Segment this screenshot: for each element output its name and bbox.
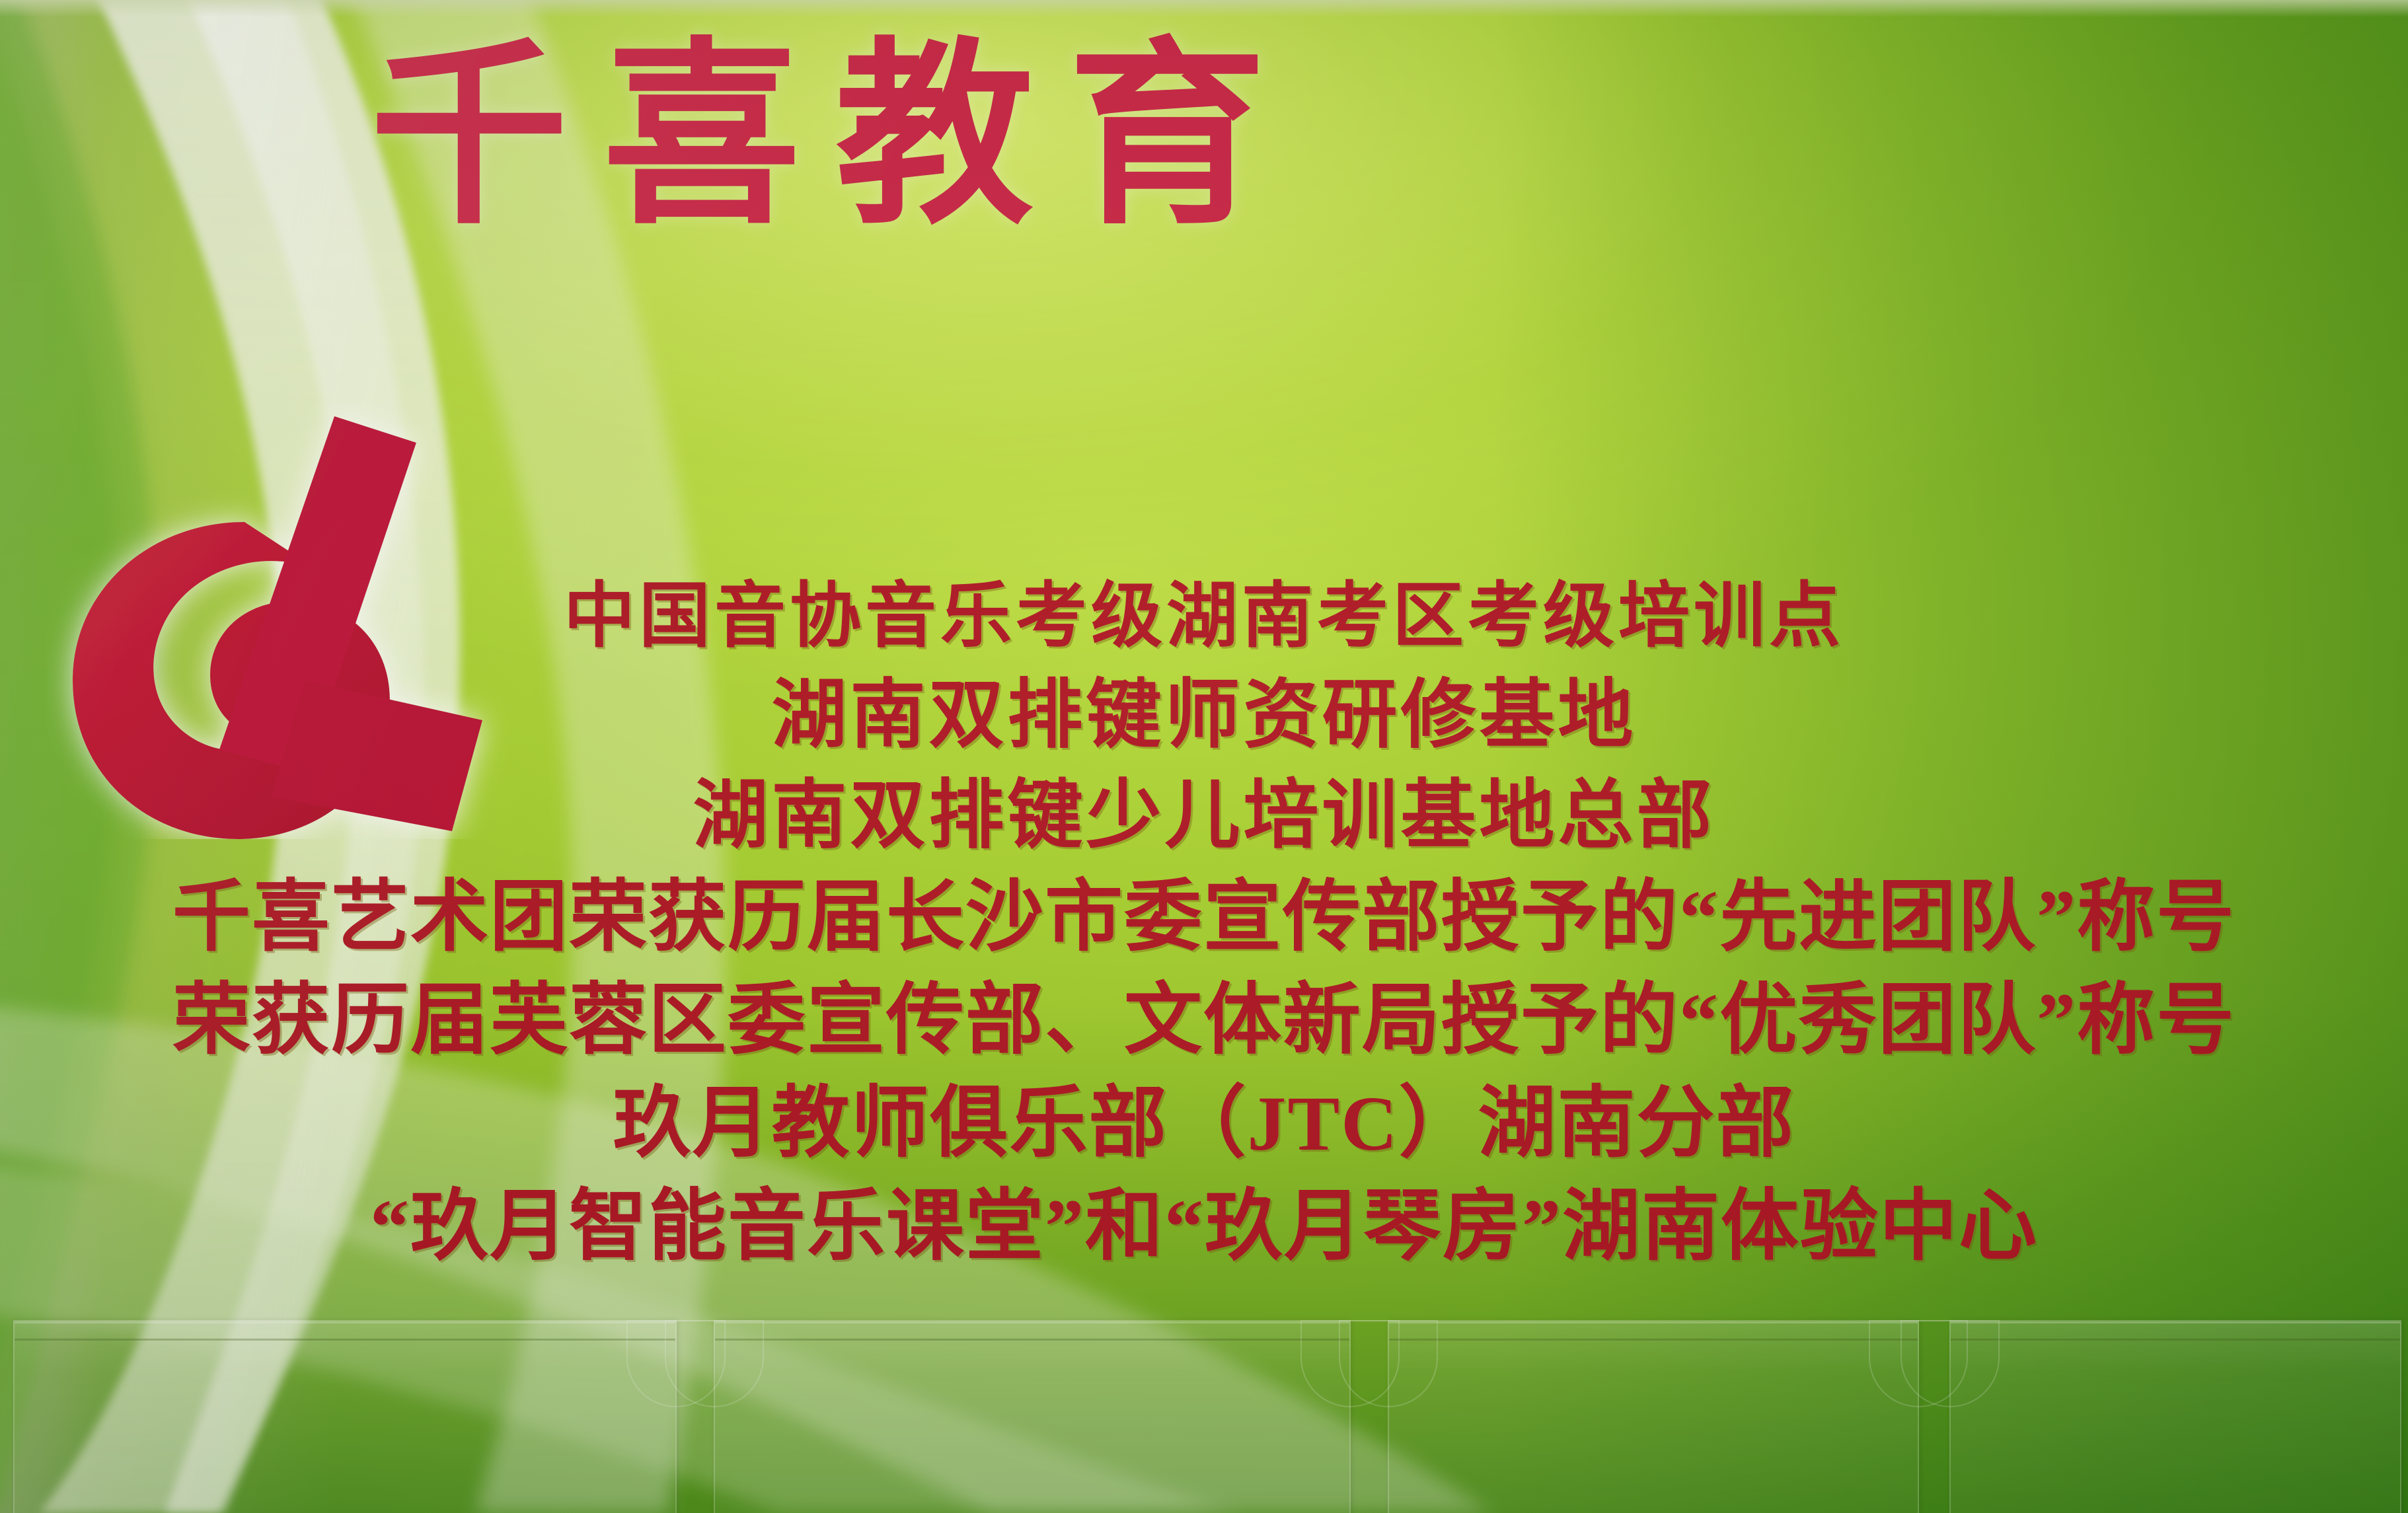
pocket-lip xyxy=(1951,1339,2400,1341)
credential-list: 中国音协音乐考级湖南考区考级培训点 湖南双排键师资研修基地 湖南双排键少儿培训基… xyxy=(0,581,2408,1291)
brochure-pocket[interactable] xyxy=(13,1320,677,1513)
credential-line: “玖月智能音乐课堂”和“玖月琴房”湖南体验中心 xyxy=(0,1188,2408,1266)
pocket-lip xyxy=(15,1339,675,1341)
pocket-lip xyxy=(715,1339,1349,1341)
brochure-pocket[interactable] xyxy=(1388,1320,1919,1513)
brochure-pocket-row xyxy=(0,1308,2408,1513)
photo-top-edge xyxy=(0,0,2408,17)
signboard-photo: 千喜教育 中国音协音乐考级湖南考区考级培训点 湖南双排键师资研修基地 湖南双排键… xyxy=(0,0,2408,1513)
credential-line: 玖月教师俱乐部（JTC）湖南分部 xyxy=(0,1085,2408,1163)
brochure-pocket[interactable] xyxy=(714,1320,1351,1513)
credential-line: 中国音协音乐考级湖南考区考级培训点 xyxy=(0,581,2408,653)
page-title: 千喜教育 xyxy=(370,38,2049,237)
credential-line: 千喜艺术团荣获历届长沙市委宣传部授予的“先进团队”称号 xyxy=(0,879,2408,957)
credential-line: 湖南双排键少儿培训基地总部 xyxy=(0,778,2408,854)
credential-line: 荣获历届芙蓉区委宣传部、文体新局授予的“优秀团队”称号 xyxy=(0,982,2408,1060)
credential-line: 湖南双排键师资研修基地 xyxy=(0,678,2408,753)
brochure-pocket[interactable] xyxy=(1949,1320,2401,1513)
pocket-lip xyxy=(1389,1339,1918,1341)
